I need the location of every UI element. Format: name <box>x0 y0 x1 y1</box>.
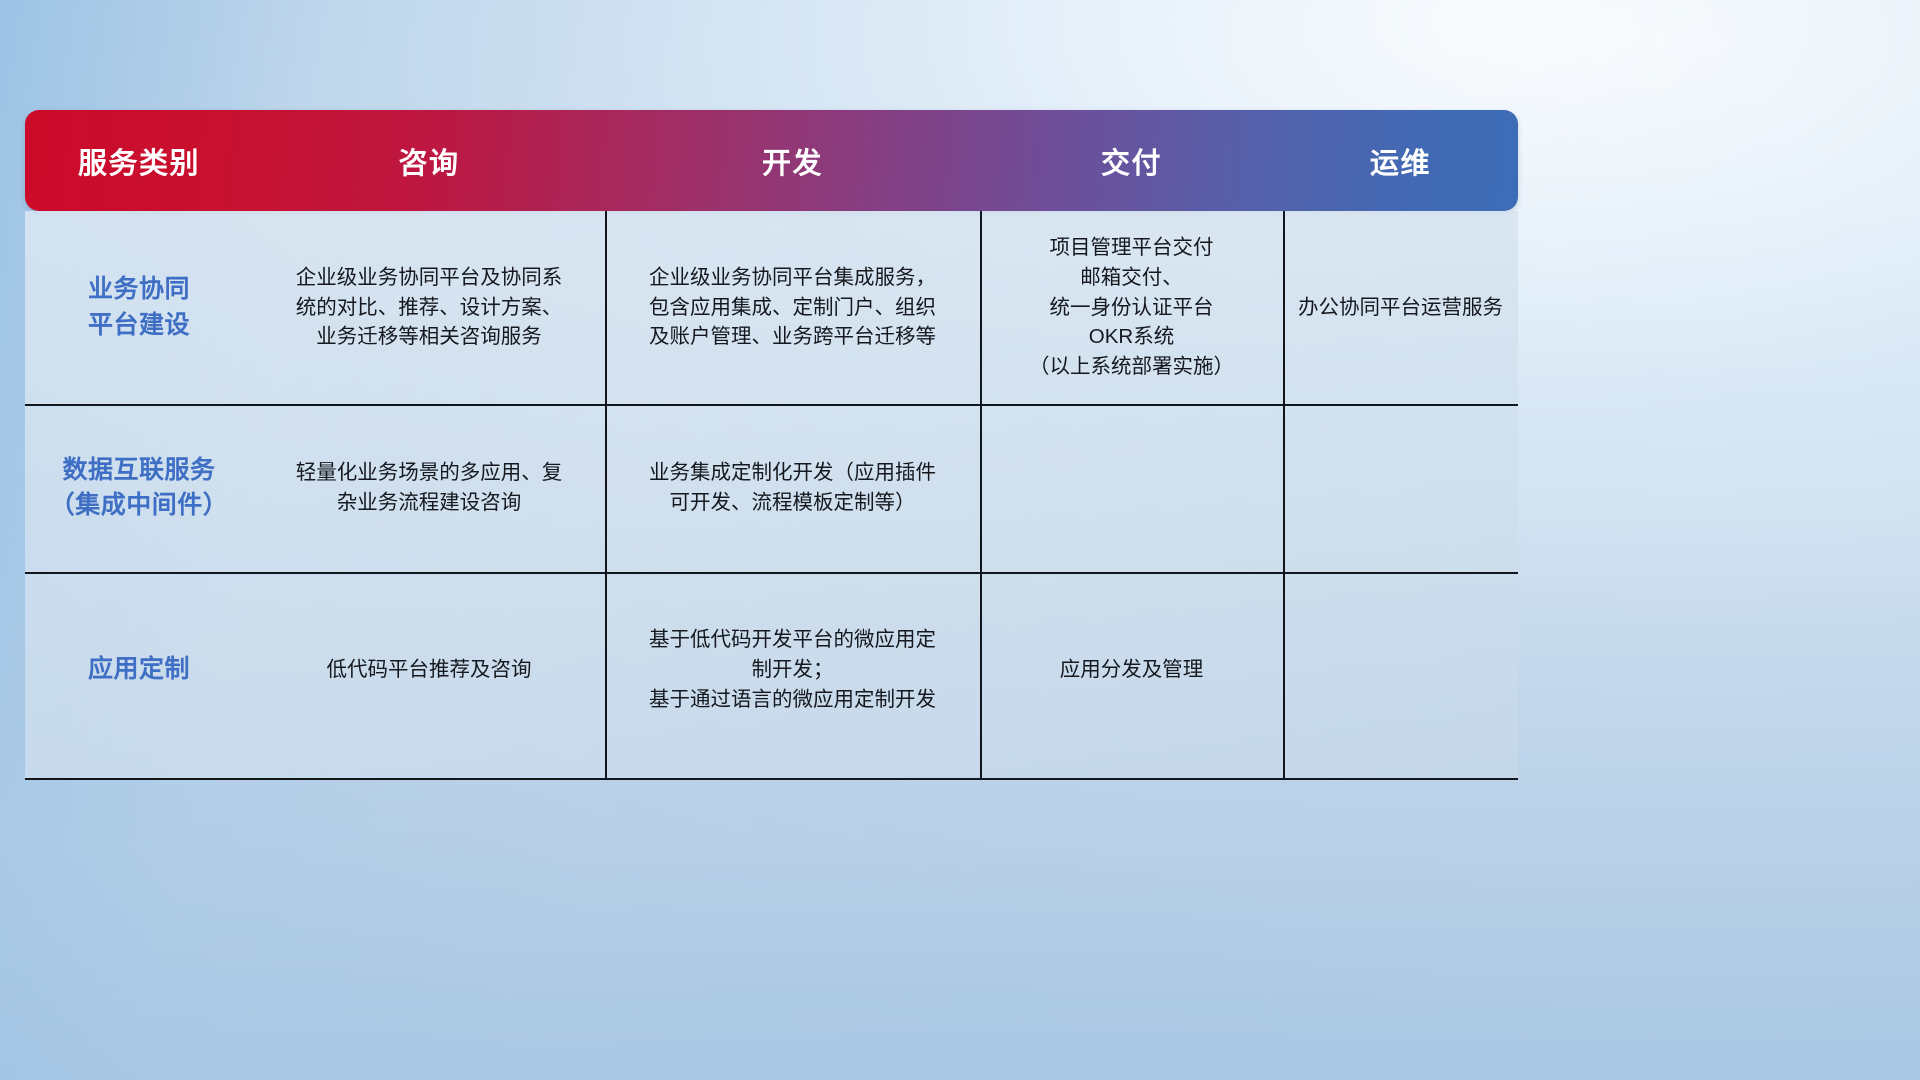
column-header-development: 开发 <box>605 110 980 211</box>
cell-development-row1: 企业级业务协同平台集成服务， 包含应用集成、定制门户、组织 及账户管理、业务跨平… <box>605 211 980 404</box>
cell-development-row2: 业务集成定制化开发（应用插件 可开发、流程模板定制等） <box>605 404 980 572</box>
column-header-operations: 运维 <box>1283 110 1518 211</box>
cell-delivery-row3: 应用分发及管理 <box>980 572 1283 768</box>
column-header-category: 服务类别 <box>25 110 253 211</box>
cell-operations-row1: 办公协同平台运营服务 <box>1283 211 1518 404</box>
column-divider <box>1283 211 1285 778</box>
table-header-row: 服务类别咨询开发交付运维 <box>25 110 1518 211</box>
table-row: 业务协同 平台建设企业级业务协同平台及协同系 统的对比、推荐、设计方案、 业务迁… <box>25 211 1518 404</box>
cell-operations-row2 <box>1283 404 1518 572</box>
row-divider <box>25 572 1518 574</box>
cell-delivery-row1: 项目管理平台交付 邮箱交付、 统一身份认证平台 OKR系统 （以上系统部署实施） <box>980 211 1283 404</box>
cell-category-row2: 数据互联服务 （集成中间件） <box>25 404 253 572</box>
column-header-consulting: 咨询 <box>253 110 605 211</box>
cell-category-row3: 应用定制 <box>25 572 253 768</box>
service-matrix-table: 服务类别咨询开发交付运维 业务协同 平台建设企业级业务协同平台及协同系 统的对比… <box>25 110 1518 780</box>
cell-consulting-row2: 轻量化业务场景的多应用、复 杂业务流程建设咨询 <box>253 404 605 572</box>
cell-delivery-row2 <box>980 404 1283 572</box>
column-divider <box>980 211 982 778</box>
cell-operations-row3 <box>1283 572 1518 768</box>
column-divider <box>605 211 607 778</box>
cell-development-row3: 基于低代码开发平台的微应用定 制开发； 基于通过语言的微应用定制开发 <box>605 572 980 768</box>
row-divider <box>25 404 1518 406</box>
table-row: 应用定制低代码平台推荐及咨询基于低代码开发平台的微应用定 制开发； 基于通过语言… <box>25 572 1518 768</box>
table-body: 业务协同 平台建设企业级业务协同平台及协同系 统的对比、推荐、设计方案、 业务迁… <box>25 211 1518 780</box>
cell-category-row1: 业务协同 平台建设 <box>25 211 253 404</box>
column-header-delivery: 交付 <box>980 110 1283 211</box>
table-row: 数据互联服务 （集成中间件）轻量化业务场景的多应用、复 杂业务流程建设咨询业务集… <box>25 404 1518 572</box>
cell-consulting-row3: 低代码平台推荐及咨询 <box>253 572 605 768</box>
cell-consulting-row1: 企业级业务协同平台及协同系 统的对比、推荐、设计方案、 业务迁移等相关咨询服务 <box>253 211 605 404</box>
row-divider <box>25 778 1518 780</box>
